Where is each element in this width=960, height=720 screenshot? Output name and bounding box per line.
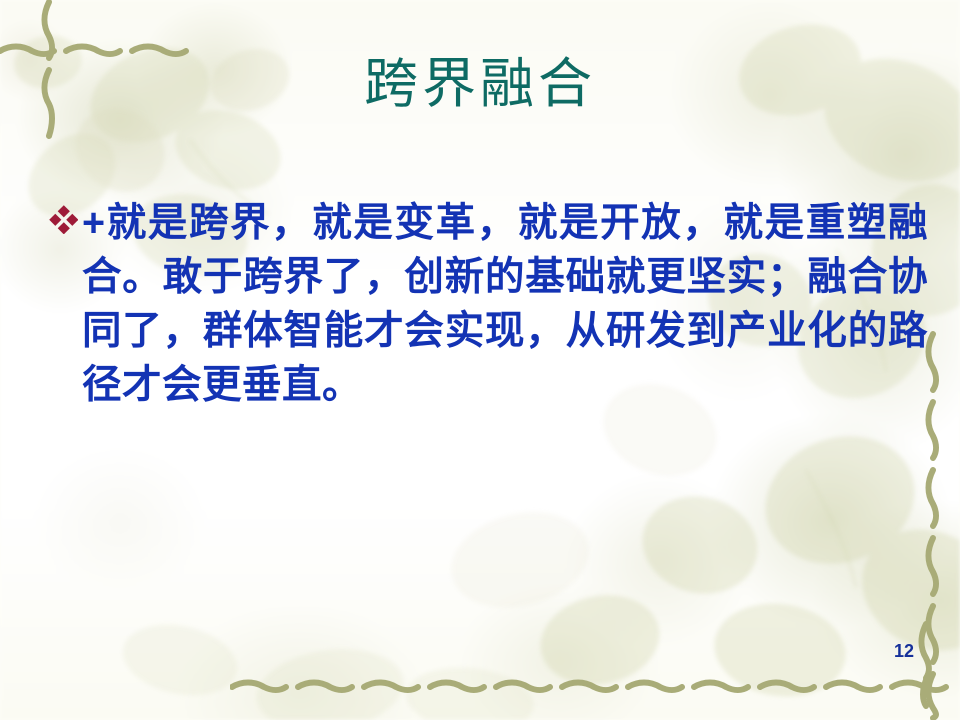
slide-title: 跨界融合 bbox=[0, 56, 960, 113]
diamond-cluster-bullet-icon bbox=[48, 204, 82, 234]
slide: 跨界融合 +就是跨界，就是变革，就是开放，就是重塑融合。敢于跨界了，创新的基础就… bbox=[0, 0, 960, 720]
bullet-list: +就是跨界，就是变革，就是开放，就是重塑融合。敢于跨界了，创新的基础就更坚实；融… bbox=[48, 196, 928, 412]
bullet-body-text: 就是跨界，就是变革，就是开放，就是重塑融合。敢于跨界了，创新的基础就更坚实；融合… bbox=[82, 201, 928, 407]
bullet-lead-symbol: + bbox=[82, 201, 106, 245]
bullet-item-text: +就是跨界，就是变革，就是开放，就是重塑融合。敢于跨界了，创新的基础就更坚实；融… bbox=[82, 196, 928, 412]
page-number: 12 bbox=[894, 641, 914, 662]
